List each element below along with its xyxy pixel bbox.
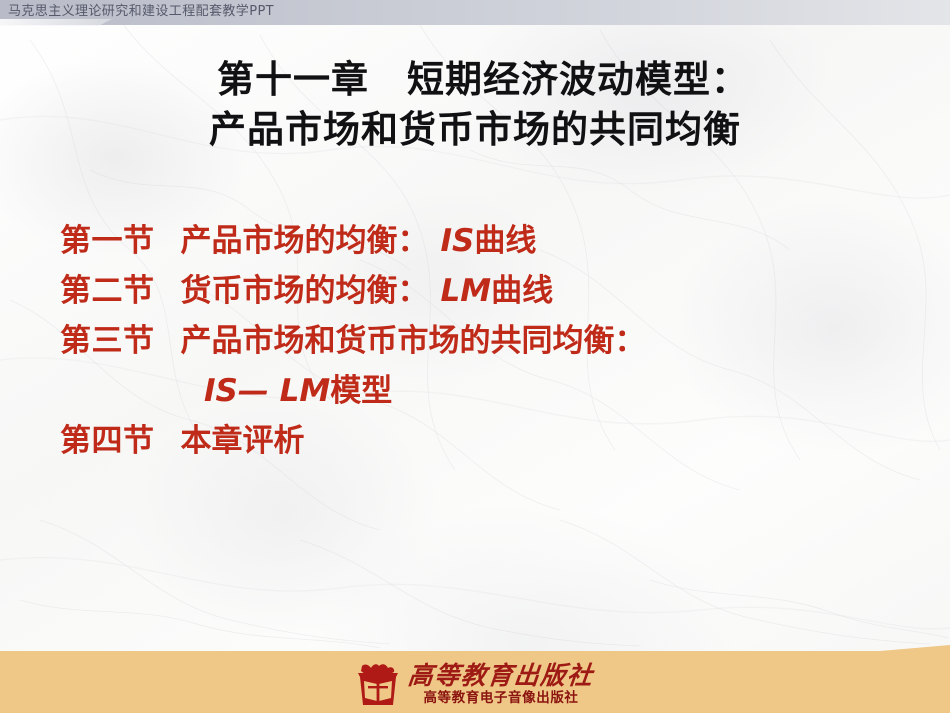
agenda-list: 第一节产品市场的均衡：IS曲线第二节货币市场的均衡：LM曲线第三节产品市场和货币… [60,216,890,466]
agenda-item-latin-term: IS— LM [204,373,330,409]
publisher-logo: 高等教育出版社 高等教育电子音像出版社 [0,645,950,713]
agenda-item-latin-term: IS [441,223,475,259]
page-title-line-2: 产品市场和货币市场的共同均衡 [0,105,950,155]
agenda-item-text-suffix: 曲线 [474,223,536,259]
agenda-section-number: 第二节 [60,273,155,309]
agenda-item-text-suffix: 曲线 [491,273,553,309]
top-banner-label: 马克思主义理论研究和建设工程配套教学PPT [8,2,274,21]
slide-canvas: 马克思主义理论研究和建设工程配套教学PPT 第十一章 短期经济波动模型： 产品市… [0,0,950,713]
agenda-item-text-suffix: 模型 [330,373,392,409]
agenda-section-number: 第三节 [60,323,155,359]
agenda-item-text: 产品市场的均衡： [181,223,429,259]
agenda-item-text: 产品市场和货币市场的共同均衡： [181,323,646,359]
agenda-item-text: 本章评析 [181,423,305,459]
agenda-section-number: 第四节 [60,423,155,459]
agenda-item[interactable]: 第二节货币市场的均衡：LM曲线 [60,266,890,316]
publisher-subname: 高等教育电子音像出版社 [423,690,578,706]
agenda-item[interactable]: 第一节产品市场的均衡：IS曲线 [60,216,890,266]
agenda-item[interactable]: 第四节本章评析 [60,416,890,466]
agenda-item-latin-term: LM [441,273,492,309]
page-title-line-1: 第十一章 短期经济波动模型： [0,55,950,105]
book-gate-emblem-icon [356,662,400,708]
page-title: 第十一章 短期经济波动模型： 产品市场和货币市场的共同均衡 [0,55,950,155]
publisher-name: 高等教育出版社 [407,662,595,689]
agenda-item[interactable]: IS— LM模型 [60,366,890,416]
agenda-item[interactable]: 第三节产品市场和货币市场的共同均衡： [60,316,890,366]
agenda-item-text: 货币市场的均衡： [181,273,429,309]
agenda-section-number: 第一节 [60,223,155,259]
